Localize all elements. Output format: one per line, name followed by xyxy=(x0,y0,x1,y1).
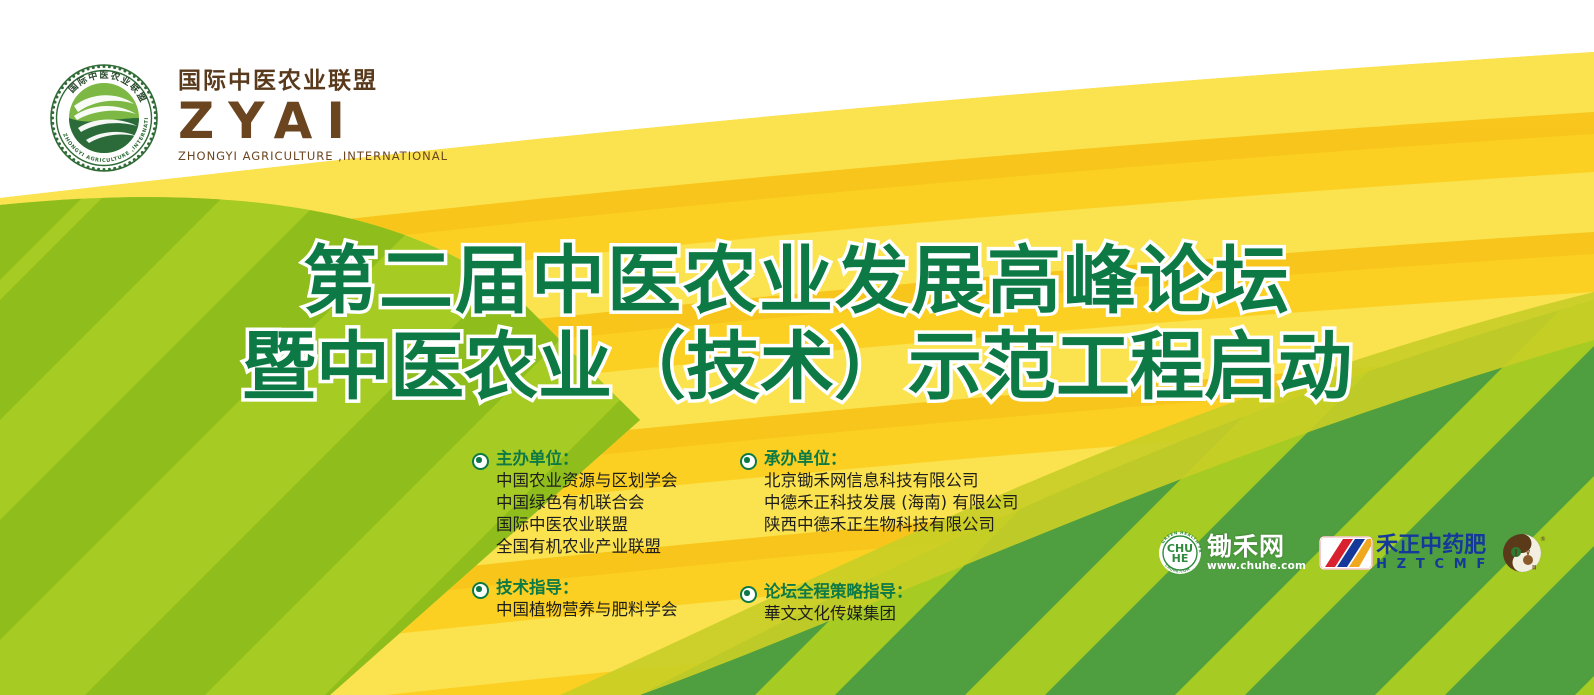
zyai-name-cn: 国际中医农业联盟 xyxy=(178,69,448,94)
hztcmf-name-en: H Z T C M F xyxy=(1376,558,1488,571)
credit-item: 中德禾正科技发展 (海南) 有限公司 xyxy=(764,492,1018,514)
zyai-acronym: ZYAI xyxy=(178,96,448,147)
credit-item: 華文文化传媒集团 xyxy=(764,603,913,625)
credits-column-2: 承办单位： 北京锄禾网信息科技有限公司 中德禾正科技发展 (海南) 有限公司 陕… xyxy=(740,447,1040,631)
zyai-seal-icon: 国际中医农业联盟 ZHONGYI AGRICULTURE ,INTERNATIO… xyxy=(48,62,160,174)
credit-heading: 主办单位： xyxy=(496,447,678,470)
bullet-icon xyxy=(472,582,489,599)
bullet-icon xyxy=(472,453,489,470)
hztcmf-stripe-icon xyxy=(1319,534,1373,572)
credit-item: 全国有机农业产业联盟 xyxy=(496,536,678,558)
credit-item: 陕西中德禾正生物科技有限公司 xyxy=(764,514,1018,536)
svg-text:®: ® xyxy=(1540,536,1546,543)
svg-text:目: 目 xyxy=(1532,564,1537,571)
hztcmf-name-cn: 禾正中药肥 xyxy=(1376,535,1488,557)
credit-item: 中国植物营养与肥料学会 xyxy=(496,599,678,621)
sponsor-chuhe: GREEN HEALTH FRESH CHUHE.COM CHU HE 锄禾网 … xyxy=(1158,531,1306,575)
credit-item: 国际中医农业联盟 xyxy=(496,514,678,536)
credit-group-tech-guidance: 技术指导： 中国植物营养与肥料学会 xyxy=(472,576,740,621)
credit-item: 中国绿色有机联合会 xyxy=(496,492,678,514)
credit-item: 北京锄禾网信息科技有限公司 xyxy=(764,470,1018,492)
zyai-logo-block: 国际中医农业联盟 ZHONGYI AGRICULTURE ,INTERNATIO… xyxy=(48,62,448,174)
poster-canvas: 国际中医农业联盟 ZHONGYI AGRICULTURE ,INTERNATIO… xyxy=(0,0,1594,695)
zyai-wordmark: 国际中医农业联盟 ZYAI ZHONGYI AGRICULTURE ,INTER… xyxy=(178,69,448,166)
sponsor-hztcmf: 禾正中药肥 H Z T C M F xyxy=(1319,534,1488,572)
chuhe-circle-icon: GREEN HEALTH FRESH CHUHE.COM CHU HE xyxy=(1158,531,1202,575)
credit-group-hosts: 承办单位： 北京锄禾网信息科技有限公司 中德禾正科技发展 (海南) 有限公司 陕… xyxy=(740,447,1040,536)
chuhe-name-cn: 锄禾网 xyxy=(1207,534,1306,559)
credits-column-1: 主办单位： 中国农业资源与区划学会 中国绿色有机联合会 国际中医农业联盟 全国有… xyxy=(472,447,740,631)
credit-heading: 技术指导： xyxy=(496,576,678,599)
credits-block: 主办单位： 中国农业资源与区划学会 中国绿色有机联合会 国际中医农业联盟 全国有… xyxy=(472,447,1040,631)
credit-item: 中国农业资源与区划学会 xyxy=(496,470,678,492)
zyai-name-en: ZHONGYI AGRICULTURE ,INTERNATIONAL xyxy=(178,149,448,163)
sponsor-logos: GREEN HEALTH FRESH CHUHE.COM CHU HE 锄禾网 … xyxy=(1158,531,1549,575)
bullet-icon xyxy=(740,453,757,470)
svg-text:HE: HE xyxy=(1172,552,1189,565)
credit-heading: 承办单位： xyxy=(764,447,1018,470)
credit-group-strategy-guidance: 论坛全程策略指导： 華文文化传媒集团 xyxy=(740,580,1040,625)
credit-heading: 论坛全程策略指导： xyxy=(764,580,913,603)
tree-yinyang-seal-icon: ® 目 xyxy=(1501,531,1549,575)
chuhe-url: www.chuhe.com xyxy=(1207,561,1306,572)
bullet-icon xyxy=(740,586,757,603)
credit-group-organizers: 主办单位： 中国农业资源与区划学会 中国绿色有机联合会 国际中医农业联盟 全国有… xyxy=(472,447,740,558)
